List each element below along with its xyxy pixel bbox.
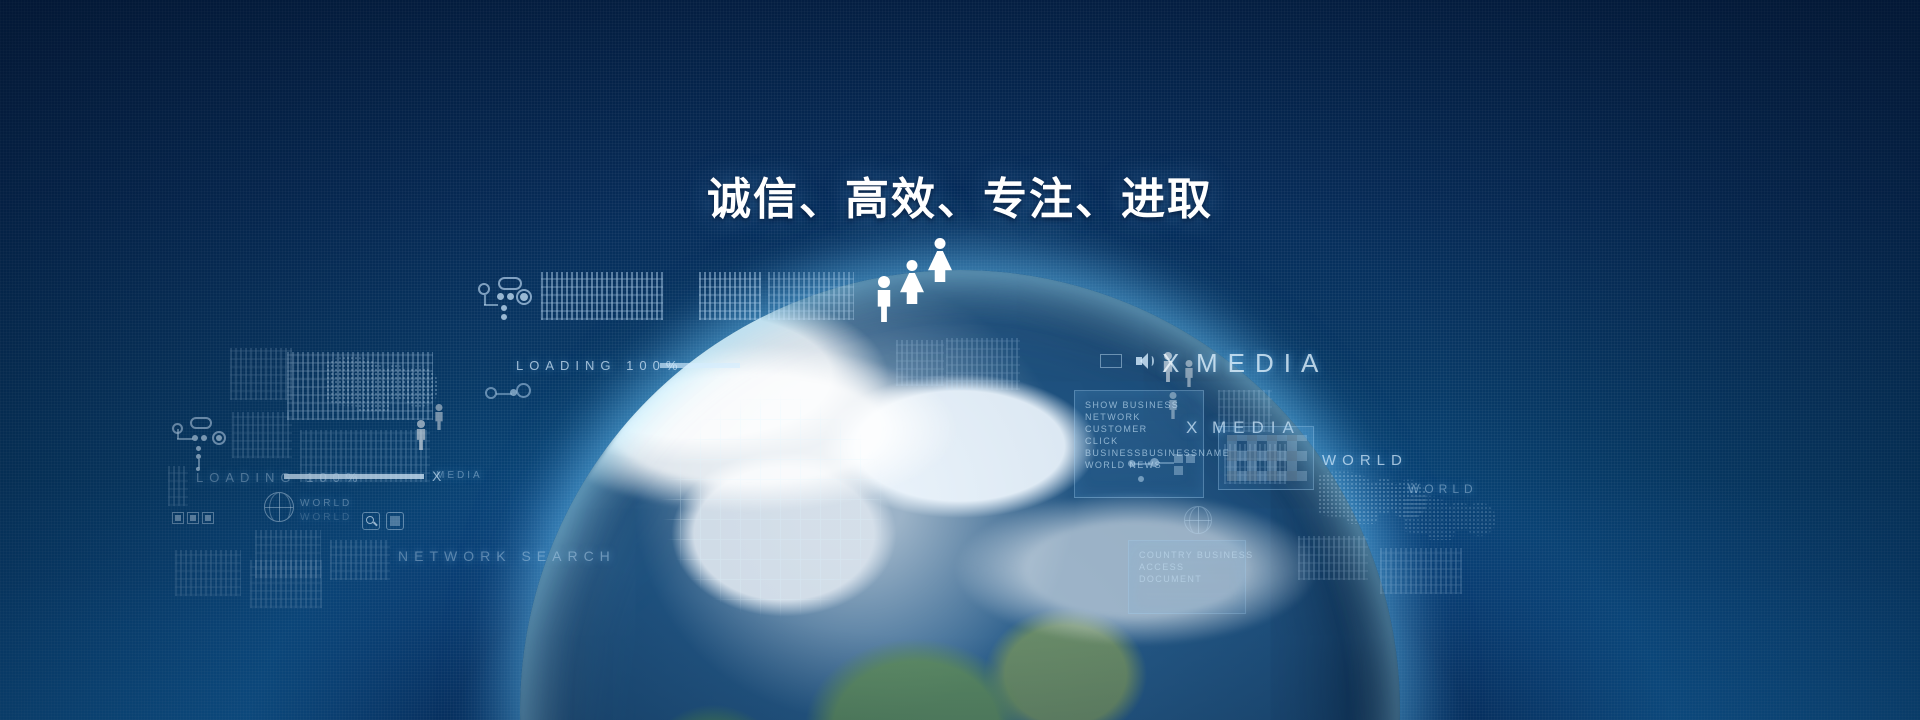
loading-label-center: LOADING 100% — [516, 358, 683, 373]
info-panel-bottom[interactable]: COUNTRY BUSINESS ACCESS DOCUMENT — [1128, 540, 1246, 614]
person-pictogram — [432, 404, 446, 430]
world-label-left: WORLD — [300, 498, 352, 509]
x-icon-right: X — [1186, 418, 1204, 438]
data-text-block — [230, 348, 292, 400]
world-map-icon-far-right — [1404, 494, 1496, 540]
node-network-icon-right — [1128, 448, 1198, 488]
list-item: SHOW BUSINESS — [1085, 399, 1193, 411]
media-label-left: MEDIA — [436, 470, 483, 481]
hud-frame-mark — [1100, 354, 1122, 368]
person-pictogram-male — [872, 276, 896, 322]
data-text-block — [946, 338, 1020, 390]
brand-media-label: MEDIA — [1196, 348, 1328, 379]
globe-icon-right — [1184, 506, 1212, 534]
doc-icon — [390, 516, 400, 526]
speaker-icon — [1136, 352, 1154, 370]
checker-pattern — [1227, 435, 1307, 481]
data-text-block — [1298, 536, 1368, 580]
data-text-block — [699, 272, 761, 320]
network-search-label: NETWORK SEARCH — [398, 548, 616, 564]
page-title: 诚信、高效、专注、进取 — [0, 163, 1920, 227]
banner-canvas: 诚信、高效、专注、进取 LOADING 100% — [0, 0, 1920, 720]
data-text-block — [250, 560, 322, 608]
globe-icon-small — [264, 492, 294, 522]
info-panel-checker[interactable] — [1218, 426, 1314, 490]
world-label-left-2: WORLD — [300, 512, 352, 523]
loading-progress-fill-left — [284, 474, 424, 479]
list-item: DOCUMENT — [1139, 573, 1235, 585]
person-pictogram — [1160, 352, 1176, 382]
x-icon-left: X — [432, 468, 441, 484]
data-text-block — [168, 466, 188, 506]
list-item: ACCESS — [1139, 561, 1235, 573]
list-item: CLICK — [1085, 435, 1193, 447]
data-text-block — [541, 272, 663, 320]
person-pictogram — [413, 420, 429, 450]
loading-progress-fill-center — [660, 363, 740, 368]
node-network-icon-left-2 — [485, 377, 531, 417]
data-text-block — [175, 550, 241, 596]
world-label-right: WORLD — [1322, 452, 1408, 469]
panel-list-bottom: COUNTRY BUSINESS ACCESS DOCUMENT — [1129, 541, 1245, 593]
list-item: CUSTOMER — [1085, 423, 1193, 435]
list-item: COUNTRY BUSINESS — [1139, 549, 1235, 561]
person-pictogram — [1182, 360, 1196, 387]
node-network-icon-center — [478, 275, 530, 321]
indicator-squares — [172, 512, 214, 528]
data-text-block — [768, 272, 854, 320]
data-text-block — [330, 540, 390, 580]
data-text-block — [896, 340, 944, 386]
data-text-block — [232, 412, 292, 458]
list-item: NETWORK — [1085, 411, 1193, 423]
person-pictogram-female — [928, 238, 952, 282]
world-map-icon-left — [326, 356, 438, 412]
globe-wireframe-overlay — [660, 390, 890, 620]
data-text-block — [1380, 548, 1462, 594]
person-pictogram-female — [900, 260, 924, 304]
